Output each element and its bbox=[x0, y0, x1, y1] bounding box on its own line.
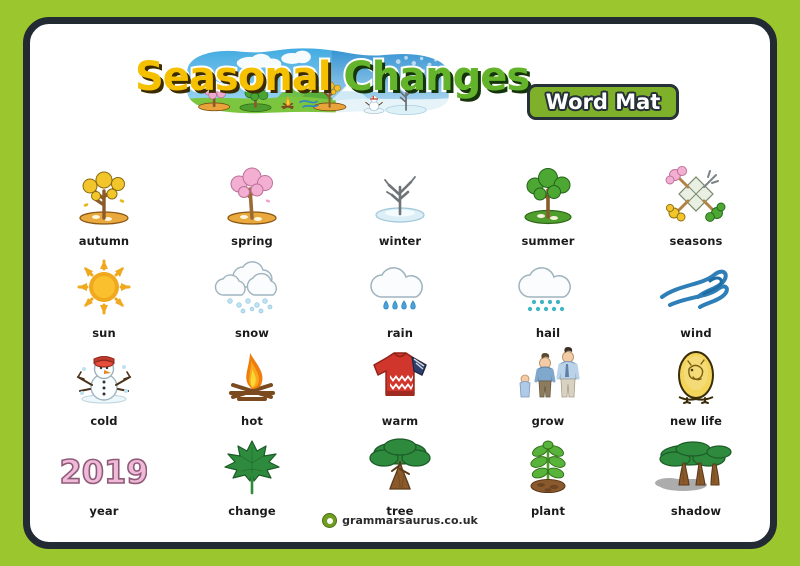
word-mat-badge-label: Word Mat bbox=[546, 90, 661, 114]
grammarsaurus-logo-icon bbox=[322, 513, 337, 528]
title-word-seasonal: Seasonal bbox=[135, 54, 330, 100]
year-2019-text: 2019 bbox=[61, 453, 147, 491]
word-label: autumn bbox=[79, 234, 129, 248]
word-cell-cold[interactable]: cold bbox=[30, 343, 178, 428]
footer-website-text: grammarsaurus.co.uk bbox=[342, 514, 478, 527]
sweater-icon bbox=[356, 343, 444, 405]
snowman-icon bbox=[60, 343, 148, 405]
word-mat-frame: Seasonal Changes Word Mat bbox=[23, 17, 777, 549]
word-label: new life bbox=[670, 414, 722, 428]
word-label: hot bbox=[241, 414, 263, 428]
word-label: winter bbox=[379, 234, 421, 248]
seasons-wheel-icon bbox=[652, 163, 740, 225]
word-cell-summer[interactable]: summer bbox=[474, 163, 622, 248]
word-cell-hail[interactable]: hail bbox=[474, 255, 622, 340]
word-label: warm bbox=[382, 414, 418, 428]
snow-cloud-icon bbox=[208, 255, 296, 317]
tree-icon bbox=[356, 433, 444, 495]
seedling-icon bbox=[504, 433, 592, 495]
word-cell-tree[interactable]: tree bbox=[326, 433, 474, 518]
title-word-changes: Changes bbox=[343, 54, 529, 100]
word-label: spring bbox=[231, 234, 273, 248]
word-cell-rain[interactable]: rain bbox=[326, 255, 474, 340]
word-label: cold bbox=[90, 414, 117, 428]
word-label: seasons bbox=[670, 234, 723, 248]
trees-shadow-icon bbox=[652, 433, 740, 495]
word-cell-year[interactable]: 2019 year bbox=[30, 433, 178, 518]
word-cell-wind[interactable]: wind bbox=[622, 255, 770, 340]
word-cell-snow[interactable]: snow bbox=[178, 255, 326, 340]
sun-icon bbox=[60, 255, 148, 317]
word-row: cold hot bbox=[30, 340, 770, 428]
word-cell-autumn[interactable]: autumn bbox=[30, 163, 178, 248]
campfire-icon bbox=[208, 343, 296, 405]
green-tree-icon bbox=[504, 163, 592, 225]
word-label: sun bbox=[92, 326, 116, 340]
wind-swirl-icon bbox=[652, 255, 740, 317]
word-label: snow bbox=[235, 326, 269, 340]
bare-tree-ice-icon bbox=[356, 163, 444, 225]
word-label: grow bbox=[532, 414, 565, 428]
blossom-tree-icon bbox=[208, 163, 296, 225]
word-cell-new-life[interactable]: new life bbox=[622, 343, 770, 428]
word-grid: autumn spring bbox=[30, 152, 770, 518]
word-cell-warm[interactable]: warm bbox=[326, 343, 474, 428]
word-cell-seasons[interactable]: seasons bbox=[622, 163, 770, 248]
word-label: wind bbox=[680, 326, 711, 340]
title-banner: Seasonal Changes bbox=[135, 46, 500, 146]
word-label: hail bbox=[536, 326, 560, 340]
word-cell-grow[interactable]: grow bbox=[474, 343, 622, 428]
hail-cloud-icon bbox=[504, 255, 592, 317]
word-label: summer bbox=[521, 234, 574, 248]
year-2019-icon: 2019 bbox=[60, 433, 148, 495]
word-row: 2019 year change bbox=[30, 428, 770, 518]
autumn-tree-icon bbox=[60, 163, 148, 225]
page-title: Seasonal Changes bbox=[135, 54, 500, 100]
growing-people-icon bbox=[504, 343, 592, 405]
rain-cloud-icon bbox=[356, 255, 444, 317]
header: Seasonal Changes Word Mat bbox=[30, 32, 770, 150]
word-row: sun bbox=[30, 248, 770, 340]
footer: grammarsaurus.co.uk bbox=[30, 513, 770, 528]
maple-leaf-icon bbox=[208, 433, 296, 495]
hatching-egg-icon bbox=[652, 343, 740, 405]
word-cell-change[interactable]: change bbox=[178, 433, 326, 518]
word-cell-spring[interactable]: spring bbox=[178, 163, 326, 248]
word-cell-sun[interactable]: sun bbox=[30, 255, 178, 340]
word-cell-plant[interactable]: plant bbox=[474, 433, 622, 518]
word-label: rain bbox=[387, 326, 413, 340]
word-cell-hot[interactable]: hot bbox=[178, 343, 326, 428]
word-cell-shadow[interactable]: shadow bbox=[622, 433, 770, 518]
word-row: autumn spring bbox=[30, 152, 770, 248]
word-mat-badge[interactable]: Word Mat bbox=[527, 84, 679, 120]
word-cell-winter[interactable]: winter bbox=[326, 163, 474, 248]
